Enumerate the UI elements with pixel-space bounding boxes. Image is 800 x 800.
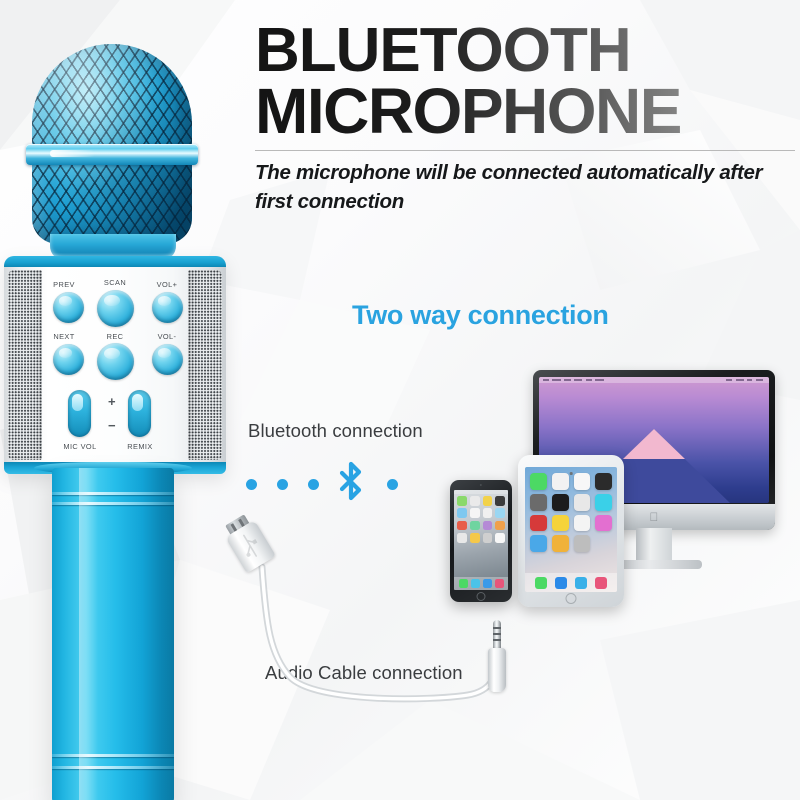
- minus-mark: −: [108, 418, 116, 433]
- dock-app-icon[interactable]: [483, 579, 492, 588]
- app-icon[interactable]: [552, 494, 569, 511]
- mic-volume-slider[interactable]: [68, 390, 91, 437]
- macos-menubar: [539, 377, 769, 383]
- app-icon[interactable]: [530, 494, 547, 511]
- app-icon[interactable]: [483, 521, 493, 531]
- feature-title: Two way connection: [352, 300, 609, 331]
- iphone-screen: [454, 490, 508, 590]
- handle-ring: [52, 754, 174, 757]
- button-label-prev: PREV: [44, 280, 84, 289]
- prev-button[interactable]: [53, 292, 84, 323]
- app-icon[interactable]: [552, 535, 569, 552]
- jack-barrel: [488, 648, 506, 692]
- app-icon[interactable]: [483, 533, 493, 543]
- bluetooth-signal-row: [246, 471, 406, 499]
- app-icon[interactable]: [483, 508, 493, 518]
- volume-down-button[interactable]: [152, 344, 183, 375]
- app-icon[interactable]: [574, 515, 591, 532]
- app-icon[interactable]: [574, 494, 591, 511]
- app-icon[interactable]: [595, 494, 612, 511]
- dock-app-icon[interactable]: [595, 577, 607, 589]
- iphone-app-grid: [457, 496, 505, 543]
- apple-logo-icon: : [650, 511, 659, 523]
- headline-line-2: MICROPHONE: [255, 82, 795, 142]
- remix-slider[interactable]: [128, 390, 151, 437]
- record-button[interactable]: [97, 343, 134, 380]
- next-button[interactable]: [53, 344, 84, 375]
- plus-mark: +: [108, 394, 116, 409]
- app-icon[interactable]: [457, 521, 467, 531]
- dock-app-icon[interactable]: [555, 577, 567, 589]
- mic-control-panel: PREV SCAN VOL+ NEXT REC VOL- MIC VOL REM…: [4, 256, 226, 474]
- button-label-next: NEXT: [44, 332, 84, 341]
- signal-dot: [277, 479, 288, 490]
- app-icon[interactable]: [470, 496, 480, 506]
- app-icon[interactable]: [495, 533, 505, 543]
- app-icon[interactable]: [495, 496, 505, 506]
- bluetooth-connection-label: Bluetooth connection: [248, 420, 423, 442]
- chrome-band: [26, 144, 198, 165]
- iphone-home-button[interactable]: [477, 592, 486, 601]
- speaker-grille-right-icon: [188, 270, 222, 460]
- app-icon[interactable]: [552, 515, 569, 532]
- panel-top-lip: [4, 256, 226, 267]
- signal-dot: [387, 479, 398, 490]
- signal-dot: [246, 479, 257, 490]
- ipad-home-button[interactable]: [566, 593, 577, 604]
- volume-up-button[interactable]: [152, 292, 183, 323]
- handle-ring: [52, 492, 174, 495]
- app-icon[interactable]: [530, 535, 547, 552]
- app-icon[interactable]: [574, 535, 591, 552]
- dock-app-icon[interactable]: [471, 579, 480, 588]
- button-label-rec: REC: [96, 332, 134, 341]
- handle-ring: [52, 502, 174, 505]
- app-icon[interactable]: [595, 535, 612, 552]
- app-icon[interactable]: [457, 508, 467, 518]
- fuji-snowcap: [623, 429, 685, 459]
- app-icon[interactable]: [530, 473, 547, 490]
- slider-label-remix: REMIX: [114, 442, 166, 451]
- app-icon[interactable]: [552, 473, 569, 490]
- headline-divider: [255, 150, 795, 151]
- button-label-voldown: VOL-: [147, 332, 187, 341]
- compatible-devices-group: : [500, 360, 800, 650]
- handle-ring: [52, 766, 174, 769]
- app-icon[interactable]: [574, 473, 591, 490]
- mic-handle: [52, 468, 174, 800]
- app-icon[interactable]: [470, 533, 480, 543]
- button-label-scan: SCAN: [93, 278, 137, 287]
- app-icon[interactable]: [470, 521, 480, 531]
- product-banner: BLUETOOTH MICROPHONE The microphone will…: [0, 0, 800, 800]
- dock-app-icon[interactable]: [495, 579, 504, 588]
- app-icon[interactable]: [595, 473, 612, 490]
- slider-label-mic-vol: MIC VOL: [52, 442, 108, 451]
- button-label-volup: VOL+: [146, 280, 188, 289]
- app-icon[interactable]: [457, 496, 467, 506]
- scan-button[interactable]: [97, 290, 134, 327]
- ipad-screen: [525, 467, 617, 592]
- imac-stand-neck: [636, 528, 672, 564]
- headline-line-1: BLUETOOTH: [255, 22, 795, 80]
- iphone-dock: [454, 577, 508, 590]
- ipad-dock: [525, 573, 617, 592]
- headline-subtitle: The microphone will be connected automat…: [255, 158, 795, 216]
- app-icon[interactable]: [595, 515, 612, 532]
- dock-app-icon[interactable]: [575, 577, 587, 589]
- app-icon[interactable]: [483, 496, 493, 506]
- ipad-device: [518, 455, 624, 607]
- speaker-grille-left-icon: [8, 270, 42, 460]
- app-icon[interactable]: [495, 508, 505, 518]
- dock-app-icon[interactable]: [459, 579, 468, 588]
- iphone-status-bar: [454, 490, 508, 494]
- app-icon[interactable]: [470, 508, 480, 518]
- iphone-camera-icon: [480, 484, 482, 486]
- headline-block: BLUETOOTH MICROPHONE The microphone will…: [255, 22, 795, 216]
- app-icon[interactable]: [530, 515, 547, 532]
- dock-app-icon[interactable]: [535, 577, 547, 589]
- signal-dot: [308, 479, 319, 490]
- ipad-app-grid: [530, 473, 612, 552]
- iphone-device: [450, 480, 512, 602]
- app-icon[interactable]: [457, 533, 467, 543]
- app-icon[interactable]: [495, 521, 505, 531]
